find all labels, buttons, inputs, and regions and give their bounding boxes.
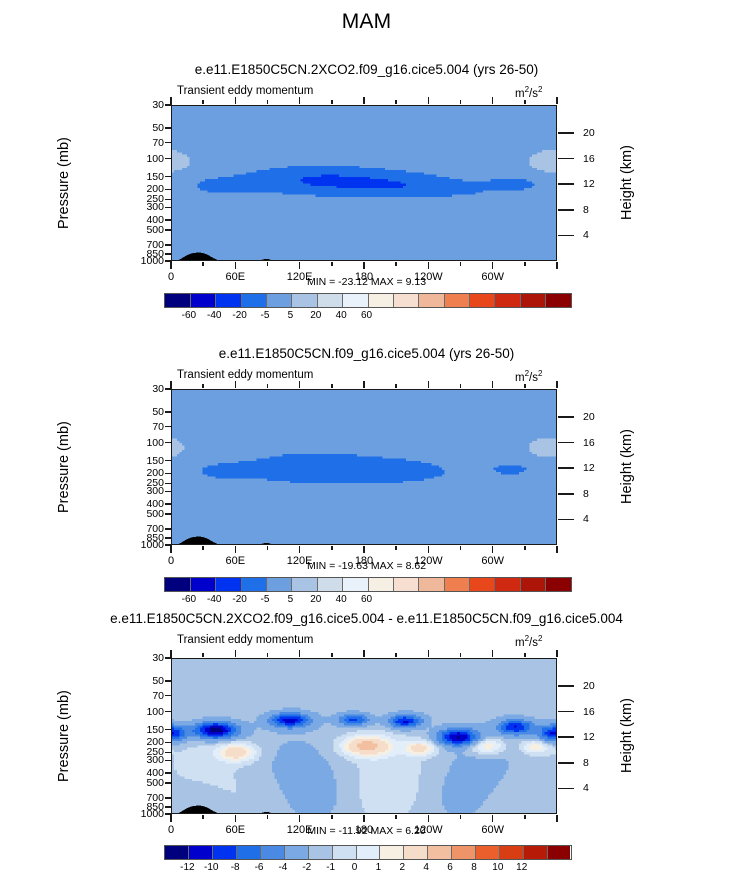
figure-title: MAM: [0, 10, 733, 34]
x-tick-minor: [331, 815, 333, 819]
minmax-annotation: MIN = -11.92 MAX = 6.20: [0, 825, 733, 837]
x-tick-major-top: [363, 97, 365, 104]
colorbar-segment: [494, 294, 519, 307]
height-tick-label: 16: [583, 706, 613, 718]
x-tick-minor: [202, 815, 204, 819]
colorbar-tick-label: 60: [345, 594, 389, 605]
pressure-tick-label: 30: [124, 383, 164, 395]
x-tick-minor: [460, 262, 462, 266]
pressure-tick-mark: [165, 158, 172, 160]
pressure-tick-mark: [165, 426, 172, 428]
height-tick-label: 12: [583, 462, 613, 474]
height-tick-label: 20: [583, 680, 613, 692]
x-tick-minor-top: [460, 653, 462, 657]
x-tick-major-top: [428, 650, 430, 657]
colorbar-segment: [165, 578, 190, 591]
x-tick-major: [556, 815, 558, 822]
pressure-tick-mark: [165, 388, 172, 390]
units-label: m2/s2: [515, 634, 542, 649]
x-tick-minor: [524, 262, 526, 266]
height-tick-mark: [558, 788, 574, 790]
variable-label: Transient eddy momentum: [177, 634, 313, 646]
colorbar-segment: [317, 294, 342, 307]
x-tick-minor: [202, 262, 204, 266]
height-tick-label: 8: [583, 488, 613, 500]
pressure-tick-mark: [165, 729, 172, 731]
pressure-tick-mark: [165, 657, 172, 659]
pressure-tick-label: 300: [124, 201, 164, 213]
pressure-tick-mark: [165, 772, 172, 774]
colorbar-segment: [165, 846, 189, 859]
x-tick-minor-top: [202, 384, 204, 388]
colorbar-segment: [241, 578, 266, 591]
colorbar-segment: [418, 294, 443, 307]
pressure-tick-mark: [165, 752, 172, 754]
colorbar-tick-label: 60: [345, 310, 389, 321]
colorbar-segment: [393, 294, 418, 307]
pressure-tick-mark: [165, 528, 172, 530]
units-label: m2/s2: [515, 369, 542, 384]
colorbar-segment: [469, 294, 494, 307]
x-tick-major: [556, 262, 558, 269]
x-tick-minor-top: [524, 100, 526, 104]
colorbar-segment: [547, 846, 571, 859]
height-tick-mark: [558, 736, 574, 738]
y-axis-label-height: Height (km): [619, 105, 639, 261]
pressure-tick-mark: [165, 199, 172, 201]
pressure-tick-mark: [165, 207, 172, 209]
y-axis-label-height: Height (km): [619, 389, 639, 545]
pressure-tick-mark: [165, 229, 172, 231]
x-tick-major: [170, 262, 172, 269]
height-tick-mark: [558, 132, 574, 134]
colorbar-segment: [545, 294, 570, 307]
x-tick-minor-top: [460, 384, 462, 388]
x-tick-minor-top: [395, 100, 397, 104]
height-tick-mark: [558, 467, 574, 469]
x-tick-major: [235, 262, 237, 269]
colorbar-segment: [291, 294, 316, 307]
height-tick-label: 12: [583, 731, 613, 743]
colorbar-segment: [260, 846, 284, 859]
pressure-tick-mark: [165, 244, 172, 246]
height-tick-label: 16: [583, 437, 613, 449]
pressure-tick-mark: [165, 695, 172, 697]
x-tick-minor: [267, 546, 269, 550]
colorbar: [164, 293, 572, 308]
x-tick-major-top: [492, 650, 494, 657]
pressure-tick-mark: [165, 503, 172, 505]
pressure-tick-mark: [165, 797, 172, 799]
min-value: MIN = -23.12: [307, 276, 368, 288]
colorbar-segment: [241, 294, 266, 307]
colorbar-segment: [393, 578, 418, 591]
colorbar-segment: [165, 294, 190, 307]
variable-label: Transient eddy momentum: [177, 369, 313, 381]
colorbar-segment: [494, 578, 519, 591]
y-axis-label-pressure: Pressure (mb): [56, 658, 76, 814]
minmax-annotation: MIN = -23.12 MAX = 9.13: [0, 276, 733, 288]
x-tick-minor-top: [524, 384, 526, 388]
colorbar-segment: [308, 846, 332, 859]
colorbar-segment: [266, 578, 291, 591]
colorbar-segment: [444, 578, 469, 591]
x-tick-minor: [395, 262, 397, 266]
x-tick-major: [492, 815, 494, 822]
pressure-tick-label: 1000: [124, 808, 164, 820]
x-tick-major-top: [492, 97, 494, 104]
x-tick-minor: [267, 815, 269, 819]
height-tick-label: 8: [583, 204, 613, 216]
x-tick-major-top: [428, 97, 430, 104]
pressure-tick-mark: [165, 460, 172, 462]
x-tick-minor-top: [395, 653, 397, 657]
x-tick-major-top: [235, 650, 237, 657]
x-tick-major-top: [299, 381, 301, 388]
x-tick-major: [428, 262, 430, 269]
pressure-tick-mark: [165, 473, 172, 475]
colorbar: [164, 577, 572, 592]
height-tick-label: 4: [583, 513, 613, 525]
x-tick-major: [492, 262, 494, 269]
pressure-tick-mark: [165, 760, 172, 762]
x-tick-minor-top: [460, 100, 462, 104]
x-tick-minor: [524, 815, 526, 819]
x-tick-major: [299, 546, 301, 553]
max-value: MAX = 8.62: [371, 560, 426, 572]
x-tick-major-top: [235, 381, 237, 388]
pressure-tick-mark: [165, 806, 172, 808]
height-tick-mark: [558, 183, 574, 185]
colorbar-segment: [469, 578, 494, 591]
colorbar-segment: [499, 846, 523, 859]
pressure-tick-label: 300: [124, 485, 164, 497]
height-tick-label: 4: [583, 782, 613, 794]
height-tick-label: 20: [583, 127, 613, 139]
pressure-tick-mark: [165, 742, 172, 744]
pressure-tick-label: 70: [124, 421, 164, 433]
x-tick-minor: [395, 815, 397, 819]
pressure-tick-mark: [165, 782, 172, 784]
x-tick-minor-top: [267, 384, 269, 388]
y-axis-label-pressure: Pressure (mb): [56, 105, 76, 261]
colorbar-tick-label: 12: [500, 862, 544, 873]
x-tick-major-top: [363, 650, 365, 657]
height-tick-mark: [558, 416, 574, 418]
height-tick-mark: [558, 209, 574, 211]
pressure-tick-mark: [165, 513, 172, 515]
pressure-tick-mark: [165, 442, 172, 444]
x-tick-major: [170, 546, 172, 553]
colorbar-segment: [403, 846, 427, 859]
pressure-tick-label: 50: [124, 406, 164, 418]
variable-label: Transient eddy momentum: [177, 85, 313, 97]
colorbar-segment: [520, 294, 545, 307]
x-tick-minor: [524, 546, 526, 550]
min-value: MIN = -11.92: [307, 825, 367, 837]
x-tick-minor-top: [395, 384, 397, 388]
pressure-tick-label: 100: [124, 153, 164, 165]
x-tick-minor: [331, 546, 333, 550]
pressure-tick-label: 100: [124, 437, 164, 449]
pressure-tick-mark: [165, 127, 172, 129]
colorbar-segment: [236, 846, 260, 859]
pressure-tick-mark: [165, 711, 172, 713]
colorbar-segment: [332, 846, 356, 859]
y-axis-label-height: Height (km): [619, 658, 639, 814]
pressure-tick-label: 30: [124, 652, 164, 664]
x-tick-major-top: [170, 97, 172, 104]
x-tick-minor-top: [331, 384, 333, 388]
pressure-tick-label: 1000: [124, 539, 164, 551]
pressure-tick-label: 500: [124, 224, 164, 236]
x-tick-major: [299, 815, 301, 822]
x-tick-minor-top: [267, 653, 269, 657]
pressure-tick-mark: [165, 491, 172, 493]
x-tick-major: [428, 546, 430, 553]
pressure-tick-mark: [165, 104, 172, 106]
colorbar-segment: [266, 294, 291, 307]
height-tick-mark: [558, 442, 574, 444]
max-value: MAX = 9.13: [371, 276, 426, 288]
colorbar-segment: [190, 578, 215, 591]
x-tick-minor: [460, 546, 462, 550]
x-tick-minor-top: [202, 653, 204, 657]
height-tick-label: 4: [583, 229, 613, 241]
pressure-tick-label: 100: [124, 706, 164, 718]
contour-plot: [171, 658, 557, 814]
x-tick-minor-top: [524, 653, 526, 657]
colorbar-segment: [212, 846, 236, 859]
pressure-tick-label: 70: [124, 137, 164, 149]
colorbar-segment: [545, 578, 570, 591]
contour-plot: [171, 389, 557, 545]
x-tick-major-top: [363, 381, 365, 388]
x-tick-major-top: [556, 97, 558, 104]
x-tick-major-top: [556, 381, 558, 388]
colorbar-segment: [475, 846, 499, 859]
x-tick-major-top: [299, 97, 301, 104]
x-tick-major: [235, 815, 237, 822]
pressure-tick-label: 1000: [124, 255, 164, 267]
contour-plot: [171, 105, 557, 261]
colorbar-segment: [291, 578, 316, 591]
pressure-tick-label: 150: [124, 455, 164, 467]
x-tick-major: [299, 262, 301, 269]
pressure-tick-label: 70: [124, 690, 164, 702]
height-tick-mark: [558, 158, 574, 160]
pressure-tick-label: 50: [124, 122, 164, 134]
x-tick-major: [363, 262, 365, 269]
x-tick-minor: [267, 262, 269, 266]
y-axis-label-pressure: Pressure (mb): [56, 389, 76, 545]
colorbar-segment: [215, 294, 240, 307]
pressure-tick-label: 150: [124, 724, 164, 736]
pressure-tick-mark: [165, 189, 172, 191]
max-value: MAX = 6.20: [370, 825, 425, 837]
units-label: m2/s2: [515, 85, 542, 100]
colorbar-segment: [523, 846, 547, 859]
colorbar-segment: [317, 578, 342, 591]
x-tick-minor-top: [267, 100, 269, 104]
x-tick-minor-top: [331, 653, 333, 657]
colorbar-segment: [356, 846, 380, 859]
colorbar-segment: [520, 578, 545, 591]
x-tick-major-top: [492, 381, 494, 388]
pressure-tick-label: 500: [124, 777, 164, 789]
panel-title: e.e11.E1850C5CN.2XCO2.f09_g16.cice5.004 …: [0, 62, 733, 77]
pressure-tick-label: 300: [124, 754, 164, 766]
height-tick-label: 8: [583, 757, 613, 769]
x-tick-major-top: [235, 97, 237, 104]
x-tick-minor: [460, 815, 462, 819]
colorbar-segment: [190, 294, 215, 307]
x-tick-major: [428, 815, 430, 822]
height-tick-mark: [558, 235, 574, 237]
x-tick-minor: [395, 546, 397, 550]
pressure-tick-mark: [165, 411, 172, 413]
colorbar: [164, 845, 572, 860]
colorbar-segment: [284, 846, 308, 859]
colorbar-segment: [418, 578, 443, 591]
height-tick-mark: [558, 711, 574, 713]
pressure-tick-mark: [165, 680, 172, 682]
height-tick-label: 12: [583, 178, 613, 190]
colorbar-segment: [342, 294, 367, 307]
pressure-tick-label: 150: [124, 171, 164, 183]
x-tick-major-top: [170, 650, 172, 657]
pressure-tick-mark: [165, 483, 172, 485]
height-tick-label: 20: [583, 411, 613, 423]
pressure-tick-label: 30: [124, 99, 164, 111]
colorbar-segment: [379, 846, 403, 859]
minmax-annotation: MIN = -19.63 MAX = 8.62: [0, 560, 733, 572]
height-tick-label: 16: [583, 153, 613, 165]
height-tick-mark: [558, 762, 574, 764]
x-tick-major: [170, 815, 172, 822]
x-tick-major: [556, 546, 558, 553]
pressure-tick-label: 50: [124, 675, 164, 687]
pressure-tick-mark: [165, 142, 172, 144]
pressure-tick-mark: [165, 176, 172, 178]
pressure-tick-label: 500: [124, 508, 164, 520]
x-tick-major: [235, 546, 237, 553]
height-tick-mark: [558, 685, 574, 687]
colorbar-segment: [427, 846, 451, 859]
x-tick-major-top: [299, 650, 301, 657]
pressure-tick-mark: [165, 253, 172, 255]
pressure-tick-mark: [165, 537, 172, 539]
colorbar-segment: [368, 578, 393, 591]
min-value: MIN = -19.63: [307, 560, 368, 572]
colorbar-segment: [188, 846, 212, 859]
x-tick-minor-top: [202, 100, 204, 104]
height-tick-mark: [558, 519, 574, 521]
x-tick-major: [363, 815, 365, 822]
pressure-tick-mark: [165, 219, 172, 221]
colorbar-segment: [342, 578, 367, 591]
colorbar-segment: [451, 846, 475, 859]
x-tick-major-top: [556, 650, 558, 657]
x-tick-major-top: [428, 381, 430, 388]
colorbar-segment: [215, 578, 240, 591]
colorbar-segment: [368, 294, 393, 307]
x-tick-minor-top: [331, 100, 333, 104]
x-tick-major-top: [170, 381, 172, 388]
x-tick-minor: [202, 546, 204, 550]
colorbar-segment: [444, 294, 469, 307]
x-tick-major: [363, 546, 365, 553]
height-tick-mark: [558, 493, 574, 495]
x-tick-minor: [331, 262, 333, 266]
panel-title: e.e11.E1850C5CN.f09_g16.cice5.004 (yrs 2…: [0, 346, 733, 361]
panel-title: e.e11.E1850C5CN.2XCO2.f09_g16.cice5.004 …: [0, 611, 733, 626]
x-tick-major: [492, 546, 494, 553]
